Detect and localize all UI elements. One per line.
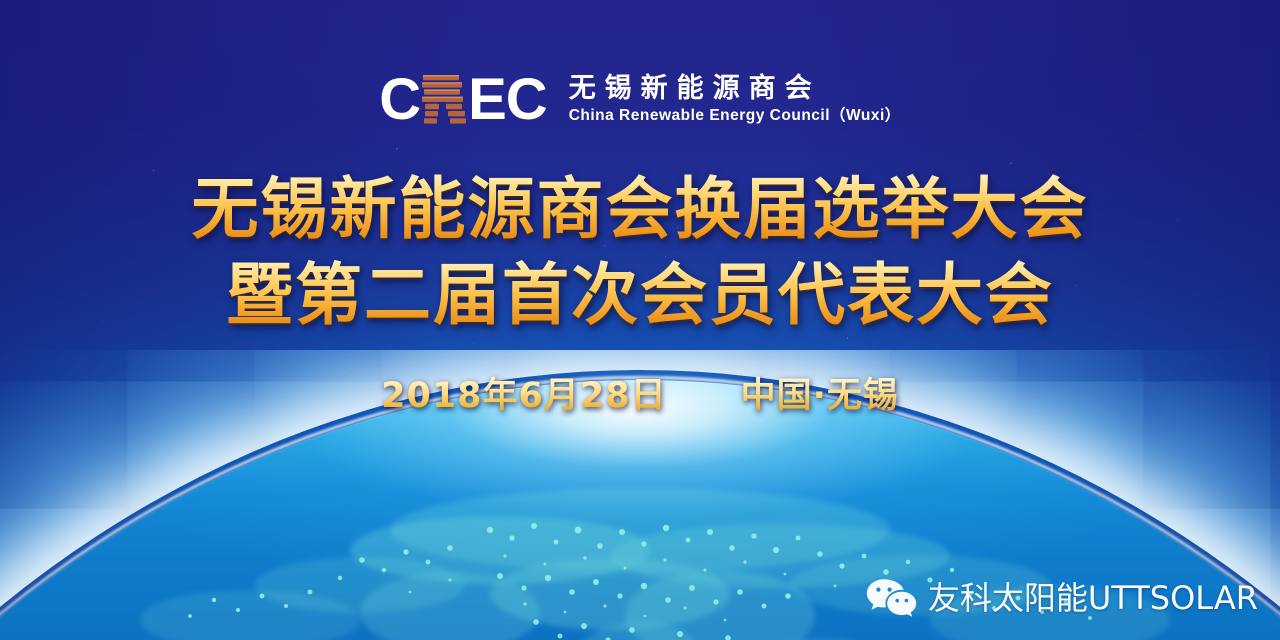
crec-logo: C: [0, 72, 1280, 128]
crec-org-names: 无锡新能源商会 China Renewable Energy Council（W…: [569, 72, 901, 125]
wechat-watermark: 友科太阳能UTTSOLAR: [865, 578, 1258, 618]
event-title-line-1: 无锡新能源商会换届选举大会: [0, 168, 1280, 250]
event-location: 中国·无锡: [741, 374, 899, 418]
crec-acronym: C: [379, 72, 546, 128]
conference-banner: C: [0, 0, 1280, 640]
crec-letter-c1: C: [379, 72, 420, 128]
crec-letter-c2: C: [506, 72, 547, 128]
org-name-english: China Renewable Energy Council（Wuxi）: [569, 106, 901, 125]
wechat-icon: [865, 578, 917, 618]
event-title: 无锡新能源商会换届选举大会 暨第二届首次会员代表大会: [0, 168, 1280, 336]
crec-letter-e: E: [468, 72, 506, 128]
event-date-location: 2018年6月28日 中国·无锡: [0, 374, 1280, 418]
event-title-line-2: 暨第二届首次会员代表大会: [0, 254, 1280, 336]
wechat-account-name: 友科太阳能UTTSOLAR: [928, 579, 1258, 617]
org-name-chinese: 无锡新能源商会: [569, 73, 901, 104]
event-date: 2018年6月28日: [381, 374, 666, 418]
crec-letter-r-solar-icon: [421, 74, 467, 126]
